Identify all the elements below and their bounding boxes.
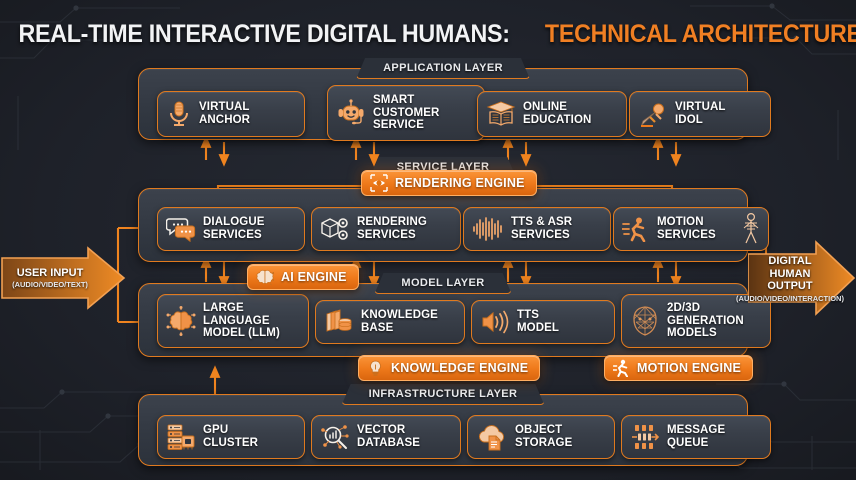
layer-infrastructure: INFRASTRUCTURE LAYER GPU CLUSTER [138, 394, 748, 466]
node-large-language-model[interactable]: LARGE LANGUAGE MODEL (LLM) [157, 294, 309, 348]
node-label: TTS & ASR SERVICES [511, 216, 572, 242]
chat-bubbles-icon [166, 216, 196, 242]
node-label: SMART CUSTOMER SERVICE [373, 94, 439, 133]
node-tts-asr-services[interactable]: TTS & ASR SERVICES [463, 207, 611, 251]
node-virtual-anchor[interactable]: VIRTUAL ANCHOR [157, 91, 305, 137]
node-label: VIRTUAL ANCHOR [199, 101, 250, 127]
face-mesh-icon [630, 305, 660, 337]
layer-title-application: APPLICATION LAYER [356, 58, 530, 79]
server-gpu-icon [166, 423, 196, 451]
node-label: LARGE LANGUAGE MODEL (LLM) [203, 302, 280, 341]
node-label: TTS MODEL [517, 309, 559, 335]
architecture-diagram: REAL-TIME INTERACTIVE DIGITAL HUMANS: TE… [0, 0, 856, 480]
badge-label: KNOWLEDGE ENGINE [391, 361, 528, 375]
node-label: VECTOR DATABASE [357, 424, 420, 450]
node-tts-model[interactable]: TTS MODEL [471, 300, 615, 344]
brain-chip-icon [256, 268, 274, 286]
microphone-icon [166, 100, 192, 128]
layer-service: SERVICE LAYER DIALOGUE SERVICES [138, 188, 748, 262]
node-label: 2D/3D GENERATION MODELS [667, 302, 744, 341]
node-virtual-idol[interactable]: VIRTUAL IDOL [629, 91, 771, 137]
node-label: MESSAGE QUEUE [667, 424, 725, 450]
digital-human-output-label: DIGITAL HUMAN OUTPUT (AUDIO/VIDEO/INTERA… [750, 252, 830, 306]
node-online-education[interactable]: ONLINE EDUCATION [477, 91, 627, 137]
runner-icon [613, 359, 630, 377]
handheld-mic-icon [638, 100, 668, 128]
badge-ai-engine[interactable]: AI ENGINE [247, 264, 359, 290]
node-label: RENDERING SERVICES [357, 216, 427, 242]
speaker-icon [480, 309, 510, 335]
node-label: ONLINE EDUCATION [523, 101, 591, 127]
headset-robot-icon [336, 98, 366, 128]
node-label: OBJECT STORAGE [515, 424, 572, 450]
layer-title-model: MODEL LAYER [374, 273, 511, 294]
node-object-storage[interactable]: OBJECT STORAGE [467, 415, 615, 459]
node-message-queue[interactable]: MESSAGE QUEUE [621, 415, 771, 459]
user-input-title: USER INPUT [17, 267, 84, 280]
user-input-subtitle: (AUDIO/VIDEO/TEXT) [12, 280, 88, 289]
node-smart-customer-service[interactable]: SMART CUSTOMER SERVICE [327, 85, 485, 141]
node-gpu-cluster[interactable]: GPU CLUSTER [157, 415, 305, 459]
node-rendering-services[interactable]: RENDERING SERVICES [311, 207, 461, 251]
badge-label: MOTION ENGINE [637, 361, 741, 375]
badge-label: RENDERING ENGINE [395, 176, 525, 190]
node-label: DIALOGUE SERVICES [203, 216, 265, 242]
node-label: VIRTUAL IDOL [675, 101, 726, 127]
layer-model: MODEL LAYER LARGE LANGUAGE MODEL (LLM) [138, 283, 748, 357]
books-database-icon [324, 308, 354, 336]
title-part-2: TECHNICAL ARCHITECTURE [545, 20, 856, 49]
node-label: MOTION SERVICES [657, 216, 716, 242]
graduation-book-icon [486, 100, 516, 128]
output-title: DIGITAL HUMAN OUTPUT [750, 255, 830, 293]
badge-motion-engine[interactable]: MOTION ENGINE [604, 355, 753, 381]
node-label: KNOWLEDGE BASE [361, 309, 438, 335]
node-label: GPU CLUSTER [203, 424, 258, 450]
page-title: REAL-TIME INTERACTIVE DIGITAL HUMANS: TE… [0, 20, 856, 49]
running-figure-icon [622, 216, 650, 242]
eye-focus-icon [370, 174, 388, 192]
badge-knowledge-engine[interactable]: KNOWLEDGE ENGINE [358, 355, 540, 381]
user-input-label: USER INPUT (AUDIO/VIDEO/TEXT) [6, 252, 94, 304]
title-part-1: REAL-TIME INTERACTIVE DIGITAL HUMANS: [18, 20, 509, 49]
waveform-icon [472, 216, 504, 242]
node-knowledge-base[interactable]: KNOWLEDGE BASE [315, 300, 465, 344]
layer-application: APPLICATION LAYER VIRTUAL ANCHOR [138, 68, 748, 140]
queue-bars-icon [630, 423, 660, 451]
badge-rendering-engine[interactable]: RENDERING ENGINE [361, 170, 537, 196]
brain-circuit-icon [166, 306, 196, 336]
layer-title-infrastructure: INFRASTRUCTURE LAYER [342, 384, 545, 405]
badge-label: AI ENGINE [281, 270, 347, 284]
lightbulb-icon [367, 359, 384, 377]
node-vector-database[interactable]: VECTOR DATABASE [311, 415, 461, 459]
cloud-document-icon [476, 423, 508, 451]
node-dialogue-services[interactable]: DIALOGUE SERVICES [157, 207, 305, 251]
cube-gears-icon [320, 215, 350, 243]
output-subtitle: (AUDIO/VIDEO/INTERACTION) [736, 294, 844, 303]
scatter-search-icon [320, 423, 350, 451]
node-motion-services[interactable]: MOTION SERVICES [613, 207, 769, 251]
